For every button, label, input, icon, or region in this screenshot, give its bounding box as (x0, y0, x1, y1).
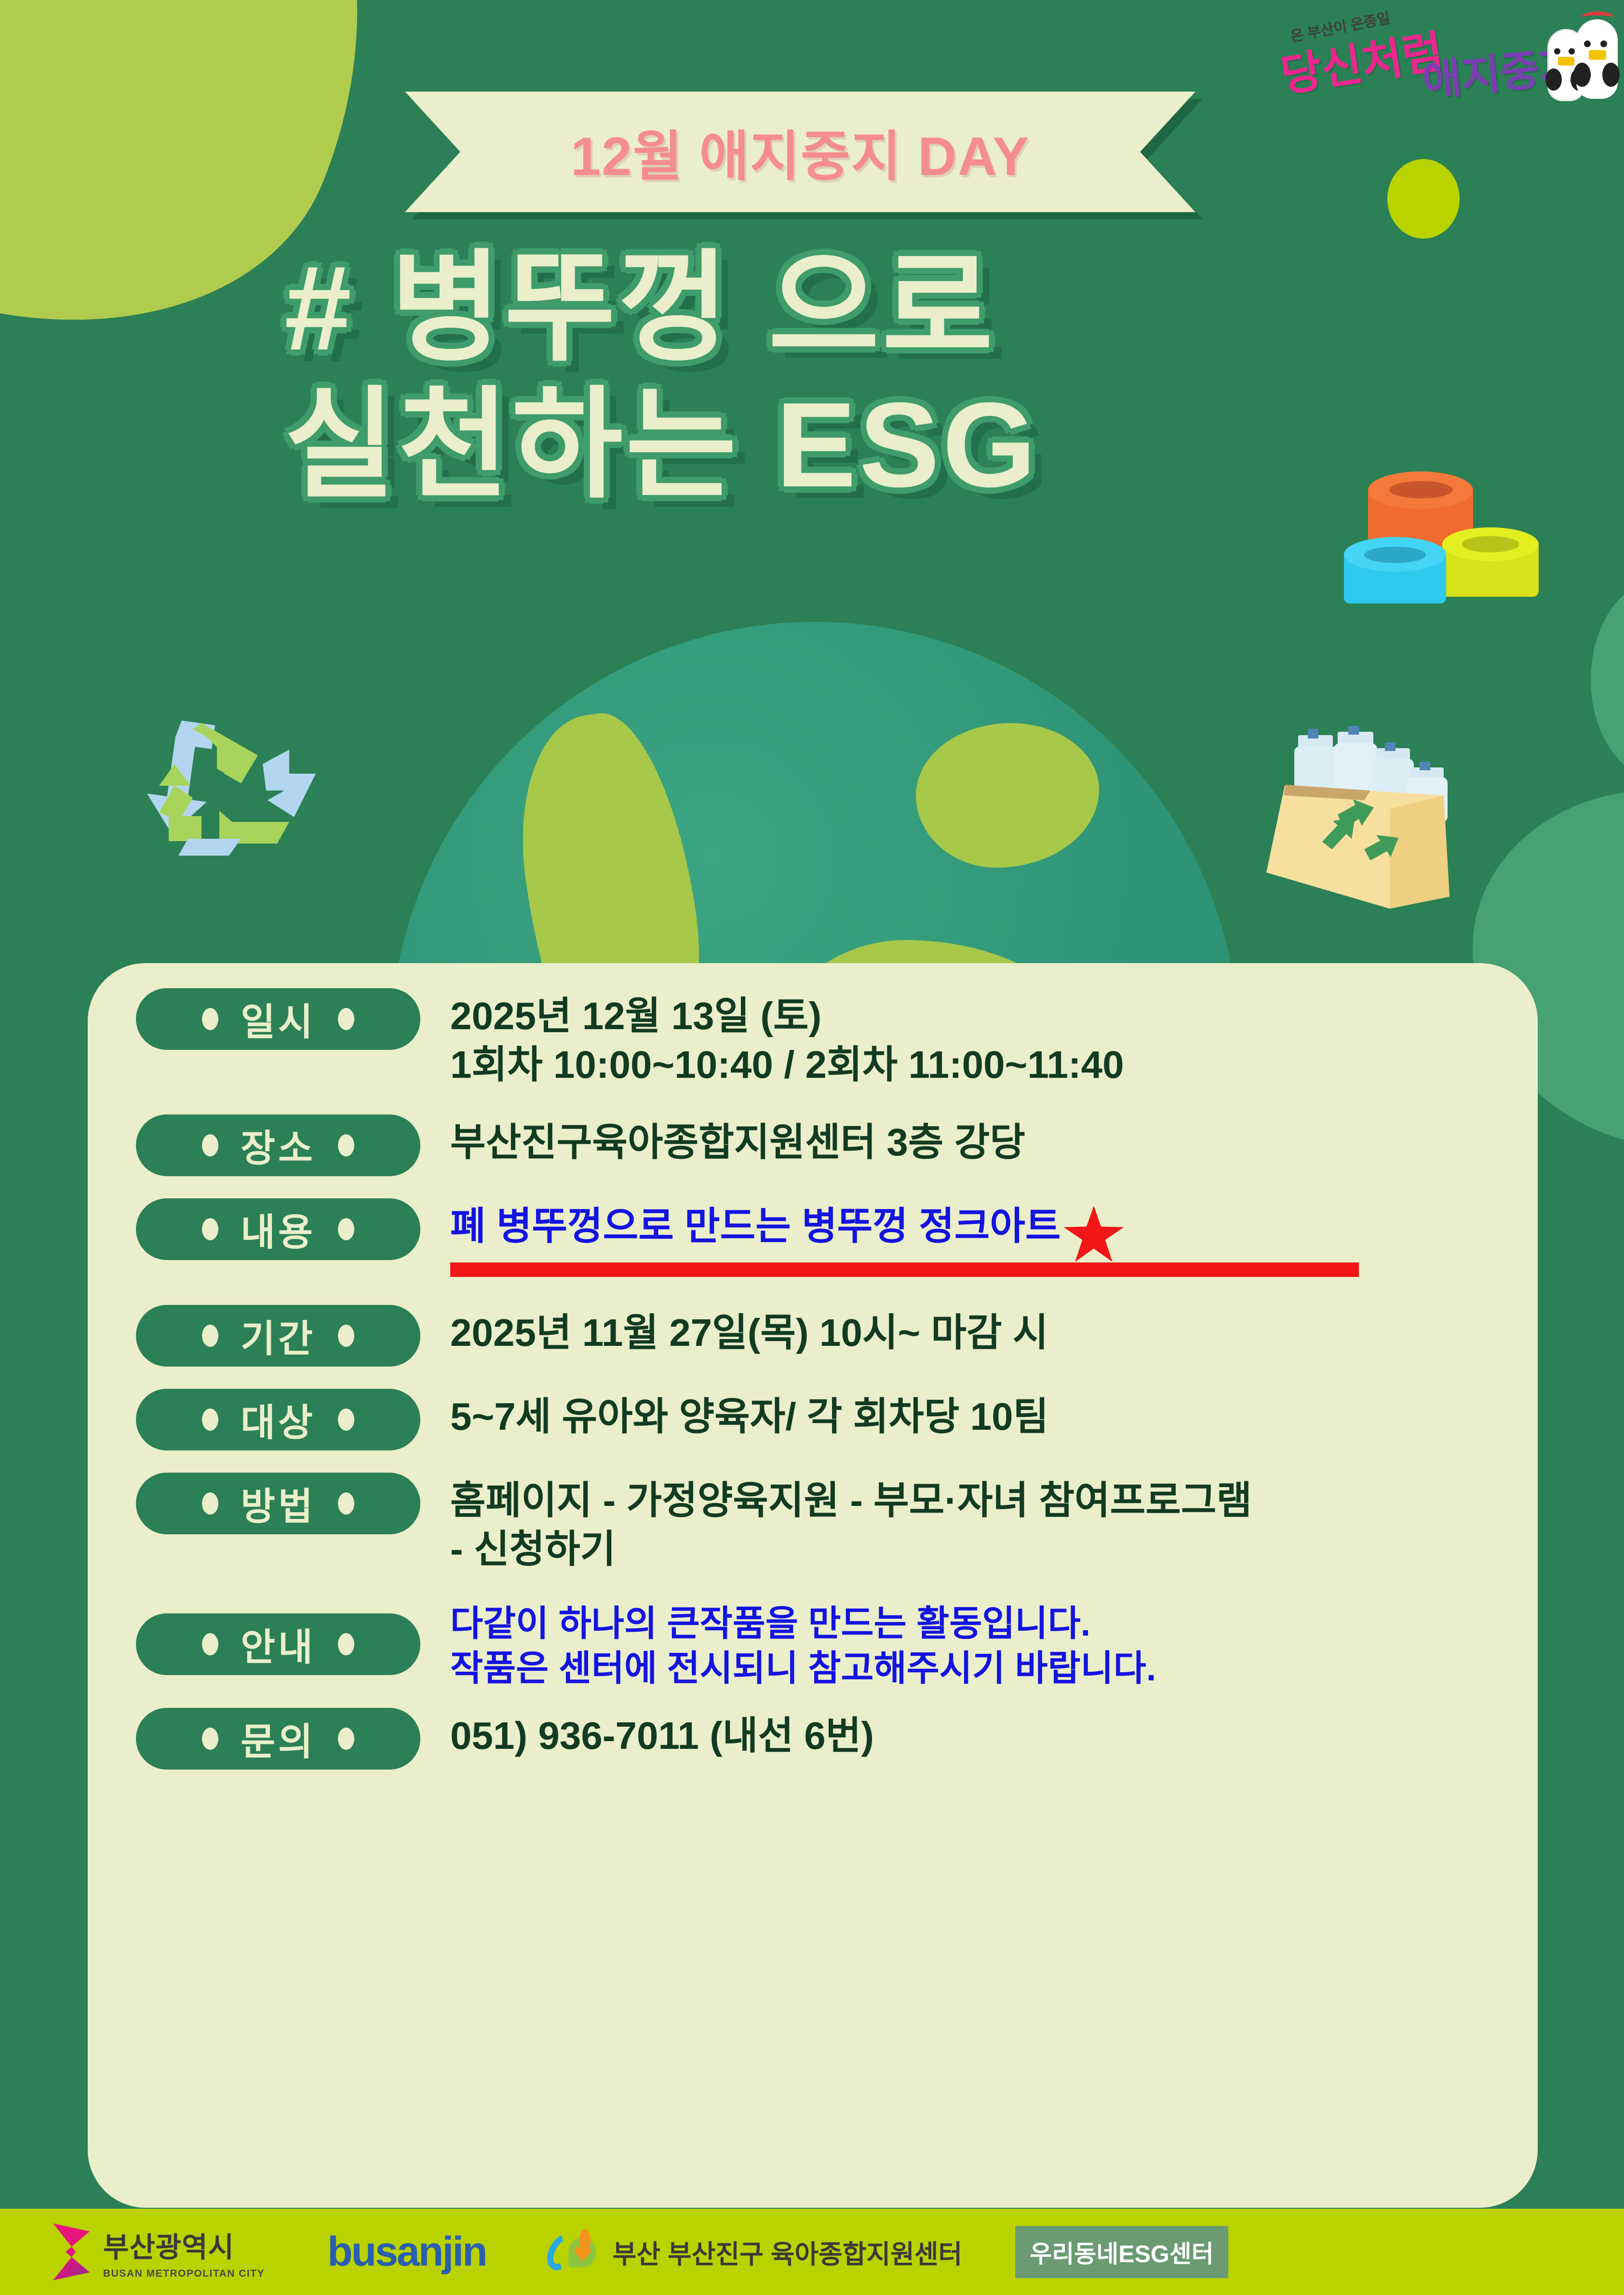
pill-dot-left-icon (202, 1008, 218, 1030)
pill-dot-right-icon (338, 1409, 354, 1431)
childcare-center-name: 부산 부산진구 육아종합지원센터 (613, 2233, 963, 2271)
poster-title-line-2: 실천하는 ESG (284, 383, 1422, 507)
pill-dot-left-icon (202, 1409, 218, 1431)
info-row-body: 홈페이지 - 가정양육지원 - 부모·자녀 참여프로그램 - 신청하기 (450, 1473, 1538, 1574)
busan-city-name-en: BUSAN METROPOLITAN CITY (103, 2268, 265, 2280)
mascot-bird-right-icon (1576, 19, 1618, 99)
info-label-pill: 내용 (136, 1198, 420, 1260)
info-row: 내용 폐 병뚜껑으로 만드는 병뚜껑 정크아트 (88, 1198, 1538, 1269)
decorative-blob-right-small (1591, 578, 1624, 781)
info-label-pill: 장소 (136, 1114, 420, 1176)
info-row-body: 5~7세 유아와 양육자/ 각 회차당 10팀 (450, 1389, 1538, 1441)
brand-logo: 온 부산이 온종일 당신처럼 애지중지 (1263, 5, 1620, 106)
footer-logo-bar: 부산광역시 BUSAN METROPOLITAN CITY busanjin 부… (0, 2209, 1624, 2295)
info-label: 기간 (241, 1309, 316, 1363)
decorative-dot-top-right (1387, 159, 1460, 239)
ribbon-label: 12월 애지중지 DAY (571, 113, 1030, 191)
info-row-body: 051) 936-7011 (내선 6번) (450, 1708, 1538, 1760)
info-row: 문의 051) 936-7011 (내선 6번) (88, 1708, 1538, 1770)
info-value-line: 홈페이지 - 가정양육지원 - 부모·자녀 참여프로그램 (450, 1476, 1538, 1525)
info-row: 안내 다같이 하나의 큰작품을 만드는 활동입니다. 작품은 센터에 전시되니 … (88, 1597, 1538, 1691)
star-icon (1064, 1206, 1124, 1263)
poster-root: 온 부산이 온종일 당신처럼 애지중지 12월 애지중지 DAY # 병 (0, 0, 1624, 2295)
info-label-pill: 안내 (136, 1613, 420, 1675)
info-label-pill: 대상 (136, 1389, 420, 1450)
pill-dot-right-icon (338, 1325, 354, 1347)
info-row: 장소 부산진구육아종합지원센터 3층 강당 (88, 1114, 1538, 1176)
event-info-card: 일시 2025년 12월 13일 (토) 1회차 10:00~10:40 / 2… (88, 963, 1538, 2208)
pill-dot-right-icon (338, 1728, 354, 1750)
busan-city-name-ko: 부산광역시 (103, 2225, 265, 2265)
info-value-line: 다같이 하나의 큰작품을 만드는 활동입니다. (450, 1601, 1538, 1646)
info-label: 일시 (241, 992, 316, 1046)
info-label: 안내 (241, 1617, 316, 1671)
content-underline (450, 1262, 1359, 1277)
poster-title: # 병뚜껑 으로 실천하는 ESG (284, 246, 1422, 507)
info-value-line: 5~7세 유아와 양육자/ 각 회차당 10팀 (450, 1393, 1538, 1441)
info-row: 일시 2025년 12월 13일 (토) 1회차 10:00~10:40 / 2… (88, 988, 1538, 1089)
pill-dot-left-icon (202, 1492, 218, 1515)
info-value-line: 051) 936-7011 (내선 6번) (450, 1712, 1538, 1760)
mascot-crown-icon (1581, 12, 1614, 23)
info-value-line: - 신청하기 (450, 1525, 1538, 1574)
pill-dot-right-icon (338, 1008, 354, 1030)
info-label: 대상 (241, 1393, 316, 1447)
pill-dot-right-icon (338, 1218, 354, 1240)
childcare-center-mark-icon (549, 2229, 602, 2275)
info-row-body: 2025년 11월 27일(목) 10시~ 마감 시 (450, 1305, 1538, 1357)
info-label-pill: 일시 (136, 988, 420, 1050)
info-label: 장소 (241, 1118, 316, 1172)
busanjin-smile-icon (86, 2284, 128, 2295)
pill-dot-right-icon (338, 1134, 354, 1156)
recycling-bag-illustration (1261, 723, 1487, 916)
info-label-pill: 기간 (136, 1305, 420, 1367)
logo-busanjin: busanjin (327, 2228, 486, 2276)
logo-busan-metropolitan-city: 부산광역시 BUSAN METROPOLITAN CITY (53, 2224, 265, 2281)
info-label-pill: 방법 (136, 1473, 420, 1534)
info-value-line: 2025년 11월 27일(목) 10시~ 마감 시 (450, 1309, 1538, 1357)
continent-shape (916, 723, 1099, 868)
pill-dot-left-icon (202, 1325, 218, 1347)
info-row-body: 부산진구육아종합지원센터 3층 강당 (450, 1114, 1538, 1167)
pill-dot-right-icon (338, 1492, 354, 1515)
info-label: 문의 (241, 1712, 316, 1766)
esg-center-box: 우리동네ESG센터 (1015, 2226, 1228, 2278)
info-label: 방법 (241, 1476, 316, 1530)
info-label: 내용 (241, 1202, 316, 1256)
bottle-caps-illustration (1330, 468, 1557, 603)
info-row: 기간 2025년 11월 27일(목) 10시~ 마감 시 (88, 1305, 1538, 1367)
info-value-highlight: 폐 병뚜껑으로 만드는 병뚜껑 정크아트 (450, 1202, 1061, 1251)
info-row-body: 2025년 12월 13일 (토) 1회차 10:00~10:40 / 2회차 … (450, 988, 1538, 1089)
logo-childcare-center: 부산 부산진구 육아종합지원센터 (549, 2229, 963, 2275)
logo-esg-center: 우리동네ESG센터 (1015, 2226, 1228, 2278)
info-row: 방법 홈페이지 - 가정양육지원 - 부모·자녀 참여프로그램 - 신청하기 (88, 1473, 1538, 1574)
info-row-body: 다같이 하나의 큰작품을 만드는 활동입니다. 작품은 센터에 전시되니 참고해… (450, 1597, 1538, 1691)
event-ribbon-banner: 12월 애지중지 DAY (405, 92, 1195, 212)
info-value-line: 2025년 12월 13일 (토) (450, 992, 1538, 1041)
info-value-line: 작품은 센터에 전시되니 참고해주시기 바랍니다. (450, 1646, 1538, 1691)
bag-side (1390, 795, 1450, 909)
info-value-line: 부산진구육아종합지원센터 3층 강당 (450, 1118, 1538, 1167)
pill-dot-left-icon (202, 1728, 218, 1750)
info-row: 대상 5~7세 유아와 양육자/ 각 회차당 10팀 (88, 1389, 1538, 1450)
pill-dot-left-icon (202, 1218, 218, 1240)
busanjin-wordmark: busanjin (327, 2228, 486, 2276)
recycle-arrows-icon (145, 701, 323, 860)
pill-dot-left-icon (202, 1134, 218, 1156)
info-row-body: 폐 병뚜껑으로 만드는 병뚜껑 정크아트 (450, 1198, 1538, 1269)
info-label-pill: 문의 (136, 1708, 420, 1770)
esg-center-name: 우리동네ESG센터 (1030, 2235, 1214, 2269)
poster-title-line-1: # 병뚜껑 으로 (284, 246, 1422, 370)
pill-dot-left-icon (202, 1633, 218, 1655)
info-value-line: 1회차 10:00~10:40 / 2회차 11:00~11:40 (450, 1041, 1538, 1089)
pill-dot-right-icon (338, 1633, 354, 1655)
busan-city-mark-icon (53, 2224, 90, 2281)
